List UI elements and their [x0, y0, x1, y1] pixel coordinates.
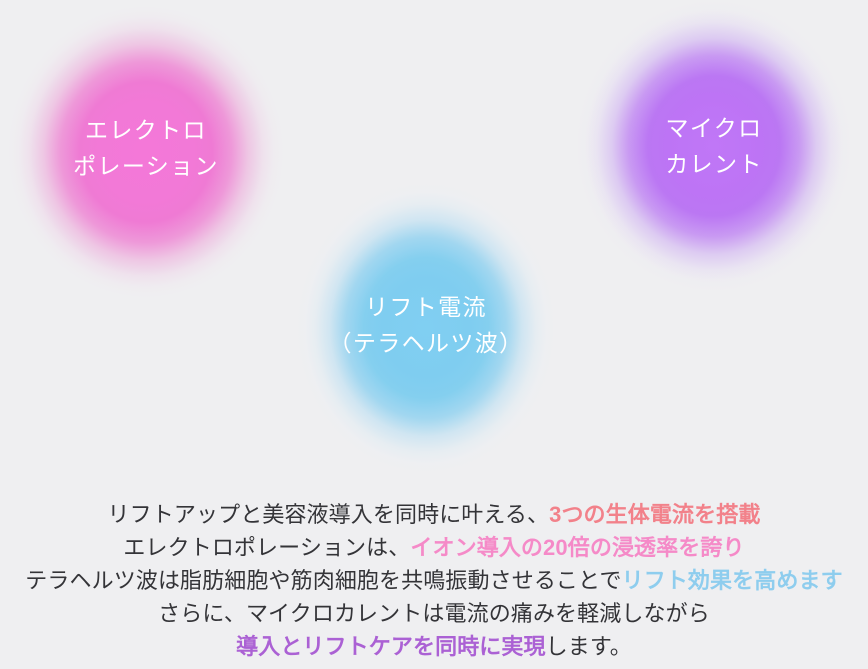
copy-line-2-plain: エレクトロポレーションは、	[123, 535, 410, 560]
blob-electroporation-label-line2: ポレーション	[73, 149, 219, 185]
copy-line-5-plain: します。	[546, 634, 632, 659]
blob-lift-current: リフト電流 （テラヘルツ波）	[296, 182, 556, 474]
blob-group: エレクトロ ポレーション リフト電流 （テラヘルツ波） マイクロ カレント	[0, 0, 868, 492]
copy-line-1-plain: リフトアップと美容液導入を同時に叶える、	[108, 502, 550, 527]
blob-microcurrent-label-line1: マイクロ	[665, 111, 763, 147]
blob-microcurrent-label: マイクロ カレント	[665, 111, 763, 182]
copy-line-2-highlight: イオン導入の20倍の浸透率を誇り	[410, 535, 744, 560]
promo-panel: エレクトロ ポレーション リフト電流 （テラヘルツ波） マイクロ カレント リフ…	[0, 0, 868, 669]
copy-line-4: さらに、マイクロカレントは電流の痛みを軽減しながら	[0, 597, 868, 630]
blob-lift-current-label-line2: （テラヘルツ波）	[328, 326, 523, 362]
copy-line-3-highlight: リフト効果を高めます	[622, 568, 843, 593]
copy-line-5-highlight: 導入とリフトケアを同時に実現	[236, 634, 546, 659]
blob-microcurrent-label-line2: カレント	[665, 147, 763, 183]
copy-line-1: リフトアップと美容液導入を同時に叶える、3つの生体電流を搭載	[0, 498, 868, 531]
body-copy: リフトアップと美容液導入を同時に叶える、3つの生体電流を搭載 エレクトロポレーシ…	[0, 498, 868, 663]
copy-line-3-plain: テラヘルツ波は脂肪細胞や筋肉細胞を共鳴振動させることで	[25, 568, 621, 593]
blob-microcurrent: マイクロ カレント	[576, 0, 852, 292]
blob-electroporation-label-line1: エレクトロ	[73, 113, 219, 149]
copy-line-2: エレクトロポレーションは、イオン導入の20倍の浸透率を誇り	[0, 531, 868, 564]
blob-lift-current-label-line1: リフト電流	[328, 290, 523, 326]
blob-lift-current-label: リフト電流 （テラヘルツ波）	[328, 290, 523, 361]
copy-line-3: テラヘルツ波は脂肪細胞や筋肉細胞を共鳴振動させることでリフト効果を高めます	[0, 564, 868, 597]
copy-line-1-highlight: 3つの生体電流を搭載	[549, 502, 760, 527]
copy-line-4-plain: さらに、マイクロカレントは電流の痛みを軽減しながら	[158, 601, 710, 626]
blob-electroporation: エレクトロ ポレーション	[8, 6, 284, 298]
copy-line-5: 導入とリフトケアを同時に実現します。	[0, 630, 868, 663]
blob-electroporation-label: エレクトロ ポレーション	[73, 113, 219, 184]
